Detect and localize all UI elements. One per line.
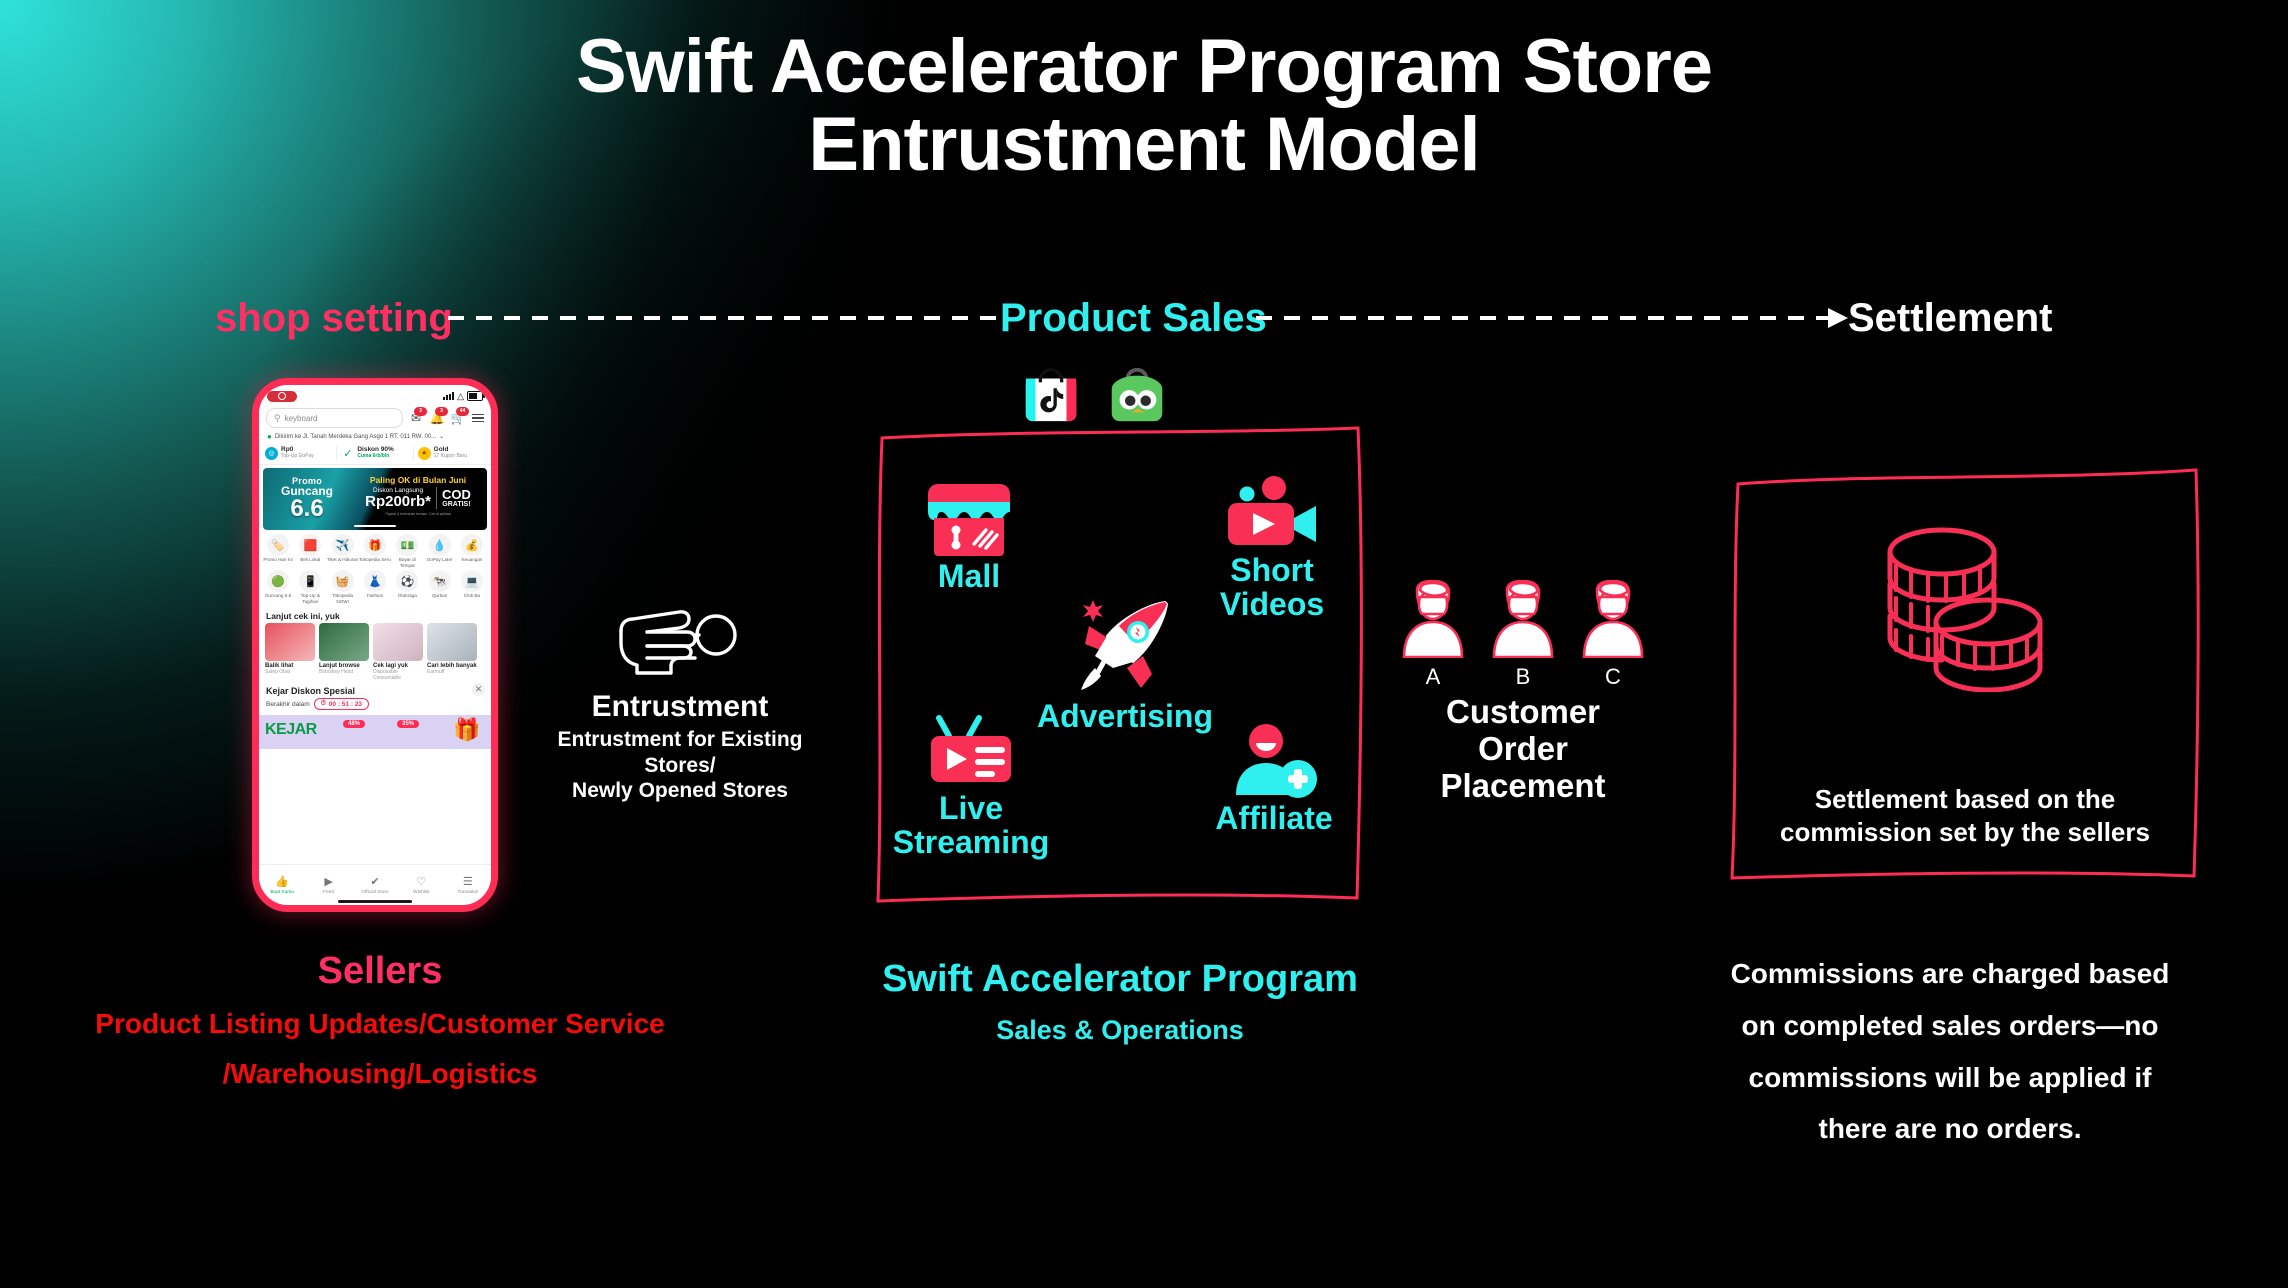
- category-label: Clok Ba: [456, 593, 488, 599]
- video-camera-icon: [1187, 476, 1357, 550]
- cod-icon: 💵: [396, 534, 418, 556]
- promo-tag-icon: 🏷️: [267, 534, 289, 556]
- nav-item[interactable]: ✔Official Store: [353, 877, 397, 895]
- channel-live-streaming: Live Streaming: [876, 714, 1066, 859]
- category-label: Olahraga: [391, 593, 423, 599]
- swift-sub: Sales & Operations: [820, 1015, 1420, 1046]
- discount-tag: 35%: [397, 720, 419, 728]
- customer-avatars: ABC: [1378, 580, 1668, 690]
- location-pin-icon: ●: [267, 432, 272, 441]
- kejar-logo: KEJAR: [265, 721, 317, 739]
- promo-headline: Paling OK di Bulan Juni: [354, 475, 482, 485]
- phone-category-grid: 🏷️Promo Hari Ini🟥Beli Lokal✈️Tiket & Hib…: [259, 530, 491, 605]
- flow-step-settlement: Settlement: [1848, 288, 2053, 348]
- topup-icon: 📱: [299, 570, 321, 592]
- sellers-line-1: Product Listing Updates/Customer Service: [30, 999, 730, 1049]
- promo-banner[interactable]: Promo Guncang 6.6 Paling OK di Bulan Jun…: [263, 468, 487, 530]
- category-item[interactable]: 💧GoPay Later: [424, 534, 456, 568]
- category-label: Top-Up & Tagihan: [294, 593, 326, 604]
- category-item[interactable]: ✈️Tiket & Hiburan: [327, 534, 359, 568]
- customer-caption-3: Placement: [1378, 768, 1668, 805]
- wifi-icon: △: [457, 392, 464, 401]
- product-thumbnail: [427, 623, 477, 661]
- commission-note: Commissions are charged based on complet…: [1700, 948, 2200, 1155]
- category-label: Beli Lokal: [294, 557, 326, 563]
- entrustment-detail-1: Entrustment for Existing Stores/: [520, 727, 840, 778]
- category-item[interactable]: 🟢Guncang 6.6: [262, 570, 294, 604]
- commission-line-2: on completed sales orders—no: [1700, 1000, 2200, 1052]
- flow-connector-2: [1256, 316, 1834, 320]
- customer-label: A: [1394, 664, 1472, 690]
- gopaylater-icon: 💧: [429, 534, 451, 556]
- tokopedia-logo: [1106, 363, 1168, 425]
- swift-title: Swift Accelerator Program: [820, 958, 1420, 1001]
- bottom-nav-bar: 👍Buat Kamu▶Feed✔Official Store♡Wishlist☰…: [259, 864, 491, 905]
- product-card-sub: Boboiboy Head: [319, 670, 369, 676]
- product-card[interactable]: Cek lagi yukDisposable Consumable: [373, 623, 423, 681]
- bell-badge: 3: [435, 407, 448, 416]
- category-label: Tokopedia Seru: [359, 557, 391, 563]
- home-indicator: [338, 900, 412, 903]
- category-item[interactable]: 🐄Qurban: [424, 570, 456, 604]
- cart-icon[interactable]: 🛒 44: [450, 410, 466, 426]
- phone-search-row: ⚲ keyboard ✉ 3 🔔 3 🛒 44: [259, 404, 491, 430]
- channel-affiliate: Affiliate: [1189, 724, 1359, 836]
- chip-gopay[interactable]: ◎ Rp0 Top-Up GoPay: [265, 446, 332, 459]
- title-line-2: Entrustment Model: [0, 106, 2288, 184]
- chevron-down-icon: ⌄: [439, 433, 444, 440]
- infographic-canvas: Swift Accelerator Program Store Entrustm…: [0, 0, 2288, 1288]
- flash-sale-strip[interactable]: KEJAR 48% 35% 🎁: [259, 715, 491, 749]
- category-item[interactable]: 📱Top-Up & Tagihan: [294, 570, 326, 604]
- banner-pagination[interactable]: [354, 525, 396, 527]
- discount-icon: ✓: [341, 447, 354, 460]
- product-card[interactable]: Lanjut browseBoboiboy Head: [319, 623, 369, 681]
- ticket-icon: ✈️: [332, 534, 354, 556]
- category-label: Promo Hari Ini: [262, 557, 294, 563]
- channel-label: Affiliate: [1189, 802, 1359, 836]
- product-card-sub: Salep Obat: [265, 670, 315, 676]
- customer-label: C: [1574, 664, 1652, 690]
- customer-caption-2: Order: [1378, 731, 1668, 768]
- category-item[interactable]: 🏷️Promo Hari Ini: [262, 534, 294, 568]
- flash-sale-title: Kejar Diskon Spesial: [266, 686, 484, 696]
- category-item[interactable]: 🟥Beli Lokal: [294, 534, 326, 568]
- recommend-section-title: Lanjut cek ini, yuk: [259, 607, 491, 623]
- product-card-sub: Earmuff: [427, 670, 477, 676]
- category-label: Bayar di Tempat: [391, 557, 423, 568]
- category-item[interactable]: 💰Keuangan: [456, 534, 488, 568]
- clock-icon: ⏱: [321, 700, 326, 708]
- commission-line-1: Commissions are charged based: [1700, 948, 2200, 1000]
- prize-gift-icon: 🎁: [447, 717, 487, 747]
- now-icon: 🧺: [332, 570, 354, 592]
- category-row-2: 🟢Guncang 6.6📱Top-Up & Tagihan🧺Tokopedia …: [262, 570, 488, 604]
- promo-banner-left: Promo Guncang 6.6: [269, 476, 345, 520]
- category-label: Guncang 6.6: [262, 593, 294, 599]
- category-row-1: 🏷️Promo Hari Ini🟥Beli Lokal✈️Tiket & Hib…: [262, 534, 488, 568]
- settlement-box: Settlement based on the commission set b…: [1726, 466, 2204, 880]
- promo-cod-sub: GRATIS!: [442, 501, 471, 508]
- sellers-caption: Sellers Product Listing Updates/Customer…: [30, 950, 730, 1100]
- customer-avatar: C: [1574, 580, 1652, 690]
- discount-tag: 48%: [343, 720, 365, 728]
- signal-icon: [443, 392, 454, 400]
- category-label: Tiket & Hiburan: [327, 557, 359, 563]
- flow-connector-1: [448, 316, 1002, 320]
- product-thumbnail: [265, 623, 315, 661]
- channel-mall: Mall: [894, 482, 1044, 594]
- platform-logos: [1020, 360, 1190, 428]
- flow-step-product-sales: Product Sales: [1000, 288, 1267, 348]
- battery-icon: [467, 391, 483, 401]
- thumbs-up-icon: 👍: [260, 877, 304, 888]
- promo-banner-right: Paling OK di Bulan Juni Diskon Langsung …: [354, 475, 482, 516]
- commission-line-3: commissions will be applied if: [1700, 1052, 2200, 1104]
- category-item[interactable]: ⚽Olahraga: [391, 570, 423, 604]
- countdown-timer: ⏱ 00 : 51 : 23: [314, 698, 369, 710]
- gold-icon: ★: [418, 447, 431, 460]
- nav-label: Buat Kamu: [260, 890, 304, 895]
- rocket-icon: [1020, 596, 1230, 696]
- promo-divider: [436, 487, 437, 509]
- phone-mockup: △ ⚲ keyboard ✉ 3 🔔 3 🛒 44 ● Dik: [252, 378, 498, 912]
- sellers-line-2: /Warehousing/Logistics: [30, 1049, 730, 1099]
- customer-avatar: A: [1394, 580, 1472, 690]
- promo-number: 6.6: [269, 498, 345, 520]
- product-thumbnail: [373, 623, 423, 661]
- commission-line-4: there are no orders.: [1700, 1103, 2200, 1155]
- add-user-icon: [1189, 724, 1359, 798]
- settlement-caption-1: Settlement based on the: [1752, 783, 2178, 816]
- promo-cod: COD: [442, 488, 471, 501]
- nav-item[interactable]: ♡Wishlist: [399, 877, 443, 895]
- nav-item[interactable]: ▶Feed: [307, 877, 351, 895]
- entrustment-block: Entrustment Entrustment for Existing Sto…: [520, 600, 840, 804]
- category-label: Fashion: [359, 593, 391, 599]
- category-item[interactable]: 🎁Tokopedia Seru: [359, 534, 391, 568]
- channel-advertising: Advertising: [1020, 596, 1230, 734]
- flow-step-shop-setting: shop setting: [215, 288, 453, 348]
- product-card[interactable]: Cari lebih banyakEarmuff: [427, 623, 477, 681]
- channel-label: Live Streaming: [876, 792, 1066, 859]
- finance-icon: 💰: [461, 534, 483, 556]
- delivery-address[interactable]: ● Dikirim ke Jl. Tanah Merdeka Gang Asgo…: [259, 430, 491, 443]
- qurban-icon: 🐄: [429, 570, 451, 592]
- customer-avatar: B: [1484, 580, 1562, 690]
- phone-quick-chips: ◎ Rp0 Top-Up GoPay ✓ Diskon 90% Cuma 6rb…: [259, 443, 491, 465]
- settlement-caption-2: commission set by the sellers: [1752, 816, 2178, 849]
- feed-icon: ▶: [307, 877, 351, 888]
- nav-label: Feed: [307, 890, 351, 895]
- category-item[interactable]: 👗Fashion: [359, 570, 391, 604]
- nav-item[interactable]: ☰Transaksi: [446, 877, 490, 895]
- title-line-1: Swift Accelerator Program Store: [576, 24, 1712, 109]
- category-label: GoPay Later: [424, 557, 456, 563]
- channel-label: Mall: [894, 560, 1044, 594]
- gopay-icon: ◎: [265, 447, 278, 460]
- storefront-icon: [894, 482, 1044, 556]
- timer-value: 00 : 51 : 23: [329, 701, 362, 708]
- tiktok-shop-logo: [1020, 363, 1082, 425]
- nav-label: Transaksi: [446, 890, 490, 895]
- nav-label: Wishlist: [399, 890, 443, 895]
- search-input[interactable]: ⚲ keyboard: [266, 408, 403, 428]
- category-item[interactable]: 🧺Tokopedia NOW!: [327, 570, 359, 604]
- flash-sale-header: Kejar Diskon Spesial Berakhir dalam ⏱ 00…: [259, 681, 491, 712]
- flash-sale-label: Berakhir dalam: [266, 701, 310, 708]
- category-label: Qurban: [424, 593, 456, 599]
- camera-pill-icon: [267, 391, 297, 402]
- search-icon: ⚲: [274, 413, 281, 424]
- entrustment-heading: Entrustment: [520, 690, 840, 724]
- entrustment-detail-2: Newly Opened Stores: [520, 778, 840, 804]
- swift-program-caption: Swift Accelerator Program Sales & Operat…: [820, 958, 1420, 1046]
- category-label: Keuangan: [456, 557, 488, 563]
- chip-sub: Cuma 6rb/bln: [357, 454, 394, 460]
- product-sales-box: Mall Short Videos: [872, 424, 1367, 904]
- recommend-card-list: Balik lihatSalep ObatLanjut browseBoboib…: [259, 623, 491, 681]
- heart-icon: ♡: [399, 877, 443, 888]
- customer-label: B: [1484, 664, 1562, 690]
- guncang-icon: 🟢: [267, 570, 289, 592]
- chip-divider: [413, 446, 414, 460]
- sports-icon: ⚽: [396, 570, 418, 592]
- cart-badge: 44: [456, 407, 469, 416]
- chip-discount[interactable]: ✓ Diskon 90% Cuma 6rb/bln: [341, 446, 408, 459]
- pointing-hand-icon: [520, 600, 840, 686]
- live-broadcast-icon: [876, 714, 1066, 788]
- transaction-icon: ☰: [446, 877, 490, 888]
- category-label: Tokopedia NOW!: [327, 593, 359, 604]
- flow-arrowhead-icon: [1828, 308, 1848, 328]
- sellers-title: Sellers: [30, 950, 730, 993]
- fashion-icon: 👗: [364, 570, 386, 592]
- mail-badge: 3: [414, 407, 427, 416]
- page-title: Swift Accelerator Program Store Entrustm…: [0, 28, 2288, 183]
- local-icon: 🟥: [299, 534, 321, 556]
- bell-icon[interactable]: 🔔 3: [429, 410, 445, 426]
- chip-sub: Top-Up GoPay: [281, 454, 314, 460]
- chip-sub: 17 Kupon Baru: [434, 454, 467, 460]
- category-item[interactable]: 💵Bayar di Tempat: [391, 534, 423, 568]
- promo-amount: Rp200rb*: [365, 494, 431, 509]
- process-flow: shop setting Product Sales Settlement: [0, 288, 2288, 348]
- product-card[interactable]: Balik lihatSalep Obat: [265, 623, 315, 681]
- nav-label: Official Store: [353, 890, 397, 895]
- product-card-sub: Disposable Consumable: [373, 670, 423, 682]
- gift-icon: 🎁: [364, 534, 386, 556]
- chip-gold[interactable]: ★ Gold 17 Kupon Baru: [418, 446, 485, 459]
- product-thumbnail: [319, 623, 369, 661]
- mail-icon[interactable]: ✉ 3: [408, 410, 424, 426]
- nav-item[interactable]: 👍Buat Kamu: [260, 877, 304, 895]
- promo-fineprint: *Syarat & ketentuan berlaku. Cek di apli…: [354, 512, 482, 516]
- customer-caption-1: Customer: [1378, 694, 1668, 731]
- hamburger-menu-icon[interactable]: [472, 414, 484, 423]
- address-text: Dikirim ke Jl. Tanah Merdeka Gang Asgo 1…: [275, 434, 436, 440]
- search-placeholder: keyboard: [285, 414, 318, 423]
- customer-order-block: ABC Customer Order Placement: [1378, 580, 1668, 805]
- chip-divider: [336, 446, 337, 460]
- category-item[interactable]: 💻Clok Ba: [456, 570, 488, 604]
- official-store-icon: ✔: [353, 877, 397, 888]
- electronics-icon: 💻: [461, 570, 483, 592]
- phone-status-bar: △: [259, 385, 491, 404]
- coin-stack-icon: [1870, 522, 2060, 697]
